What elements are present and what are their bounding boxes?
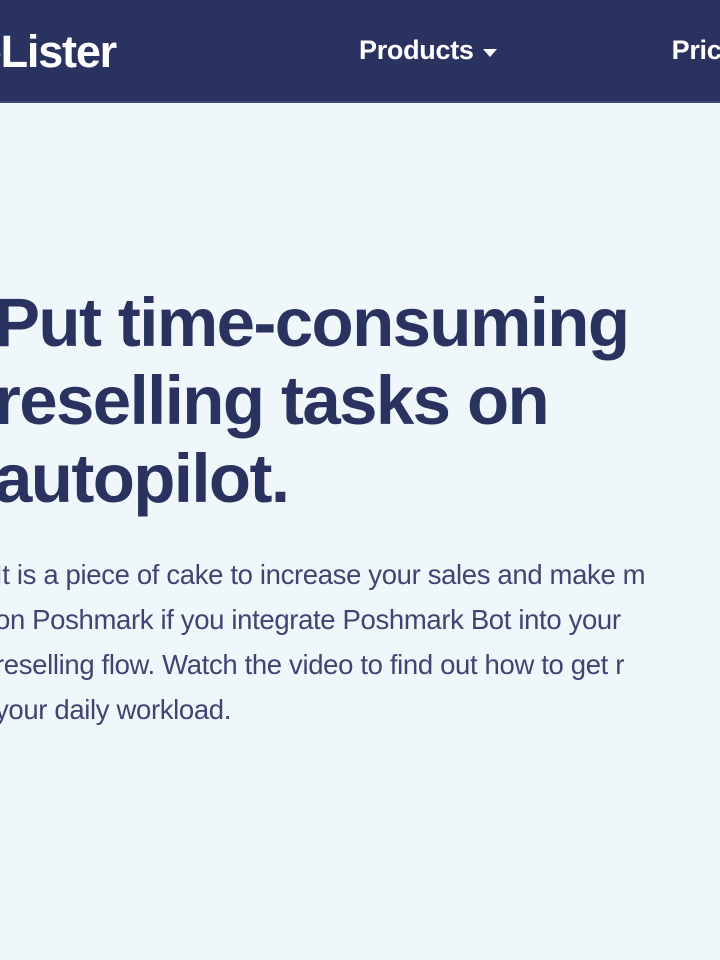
nav-item-pricing-label: Pric	[672, 33, 720, 67]
hero-heading-line-2: reselling tasks on	[0, 362, 720, 440]
hero-section: Put time-consuming reselling tasks on au…	[0, 103, 720, 960]
hero-heading-line-1: Put time-consuming	[0, 284, 720, 362]
hero-body-line-1: It is a piece of cake to increase your s…	[0, 552, 720, 597]
page-root: meLister Products Pric Put time-consumin…	[0, 0, 720, 960]
hero-heading: Put time-consuming reselling tasks on au…	[0, 284, 720, 518]
hero-body-paragraph: It is a piece of cake to increase your s…	[0, 552, 720, 732]
nav-item-pricing[interactable]: Pric	[672, 33, 720, 67]
nav-item-products-label: Products	[359, 33, 474, 67]
hero-heading-line-3: autopilot.	[0, 440, 720, 518]
brand-logo[interactable]: meLister	[0, 24, 116, 80]
hero-body-line-4: your daily workload.	[0, 687, 720, 732]
primary-navigation: Products Pric	[359, 33, 720, 67]
header-inner: meLister Products Pric	[0, 0, 720, 103]
site-header: meLister Products Pric	[0, 0, 720, 103]
hero-body-line-3: reselling flow. Watch the video to find …	[0, 642, 720, 687]
chevron-down-icon[interactable]	[483, 49, 497, 57]
nav-item-products[interactable]: Products	[359, 33, 497, 67]
hero-body-line-2: on Poshmark if you integrate Poshmark Bo…	[0, 597, 720, 642]
